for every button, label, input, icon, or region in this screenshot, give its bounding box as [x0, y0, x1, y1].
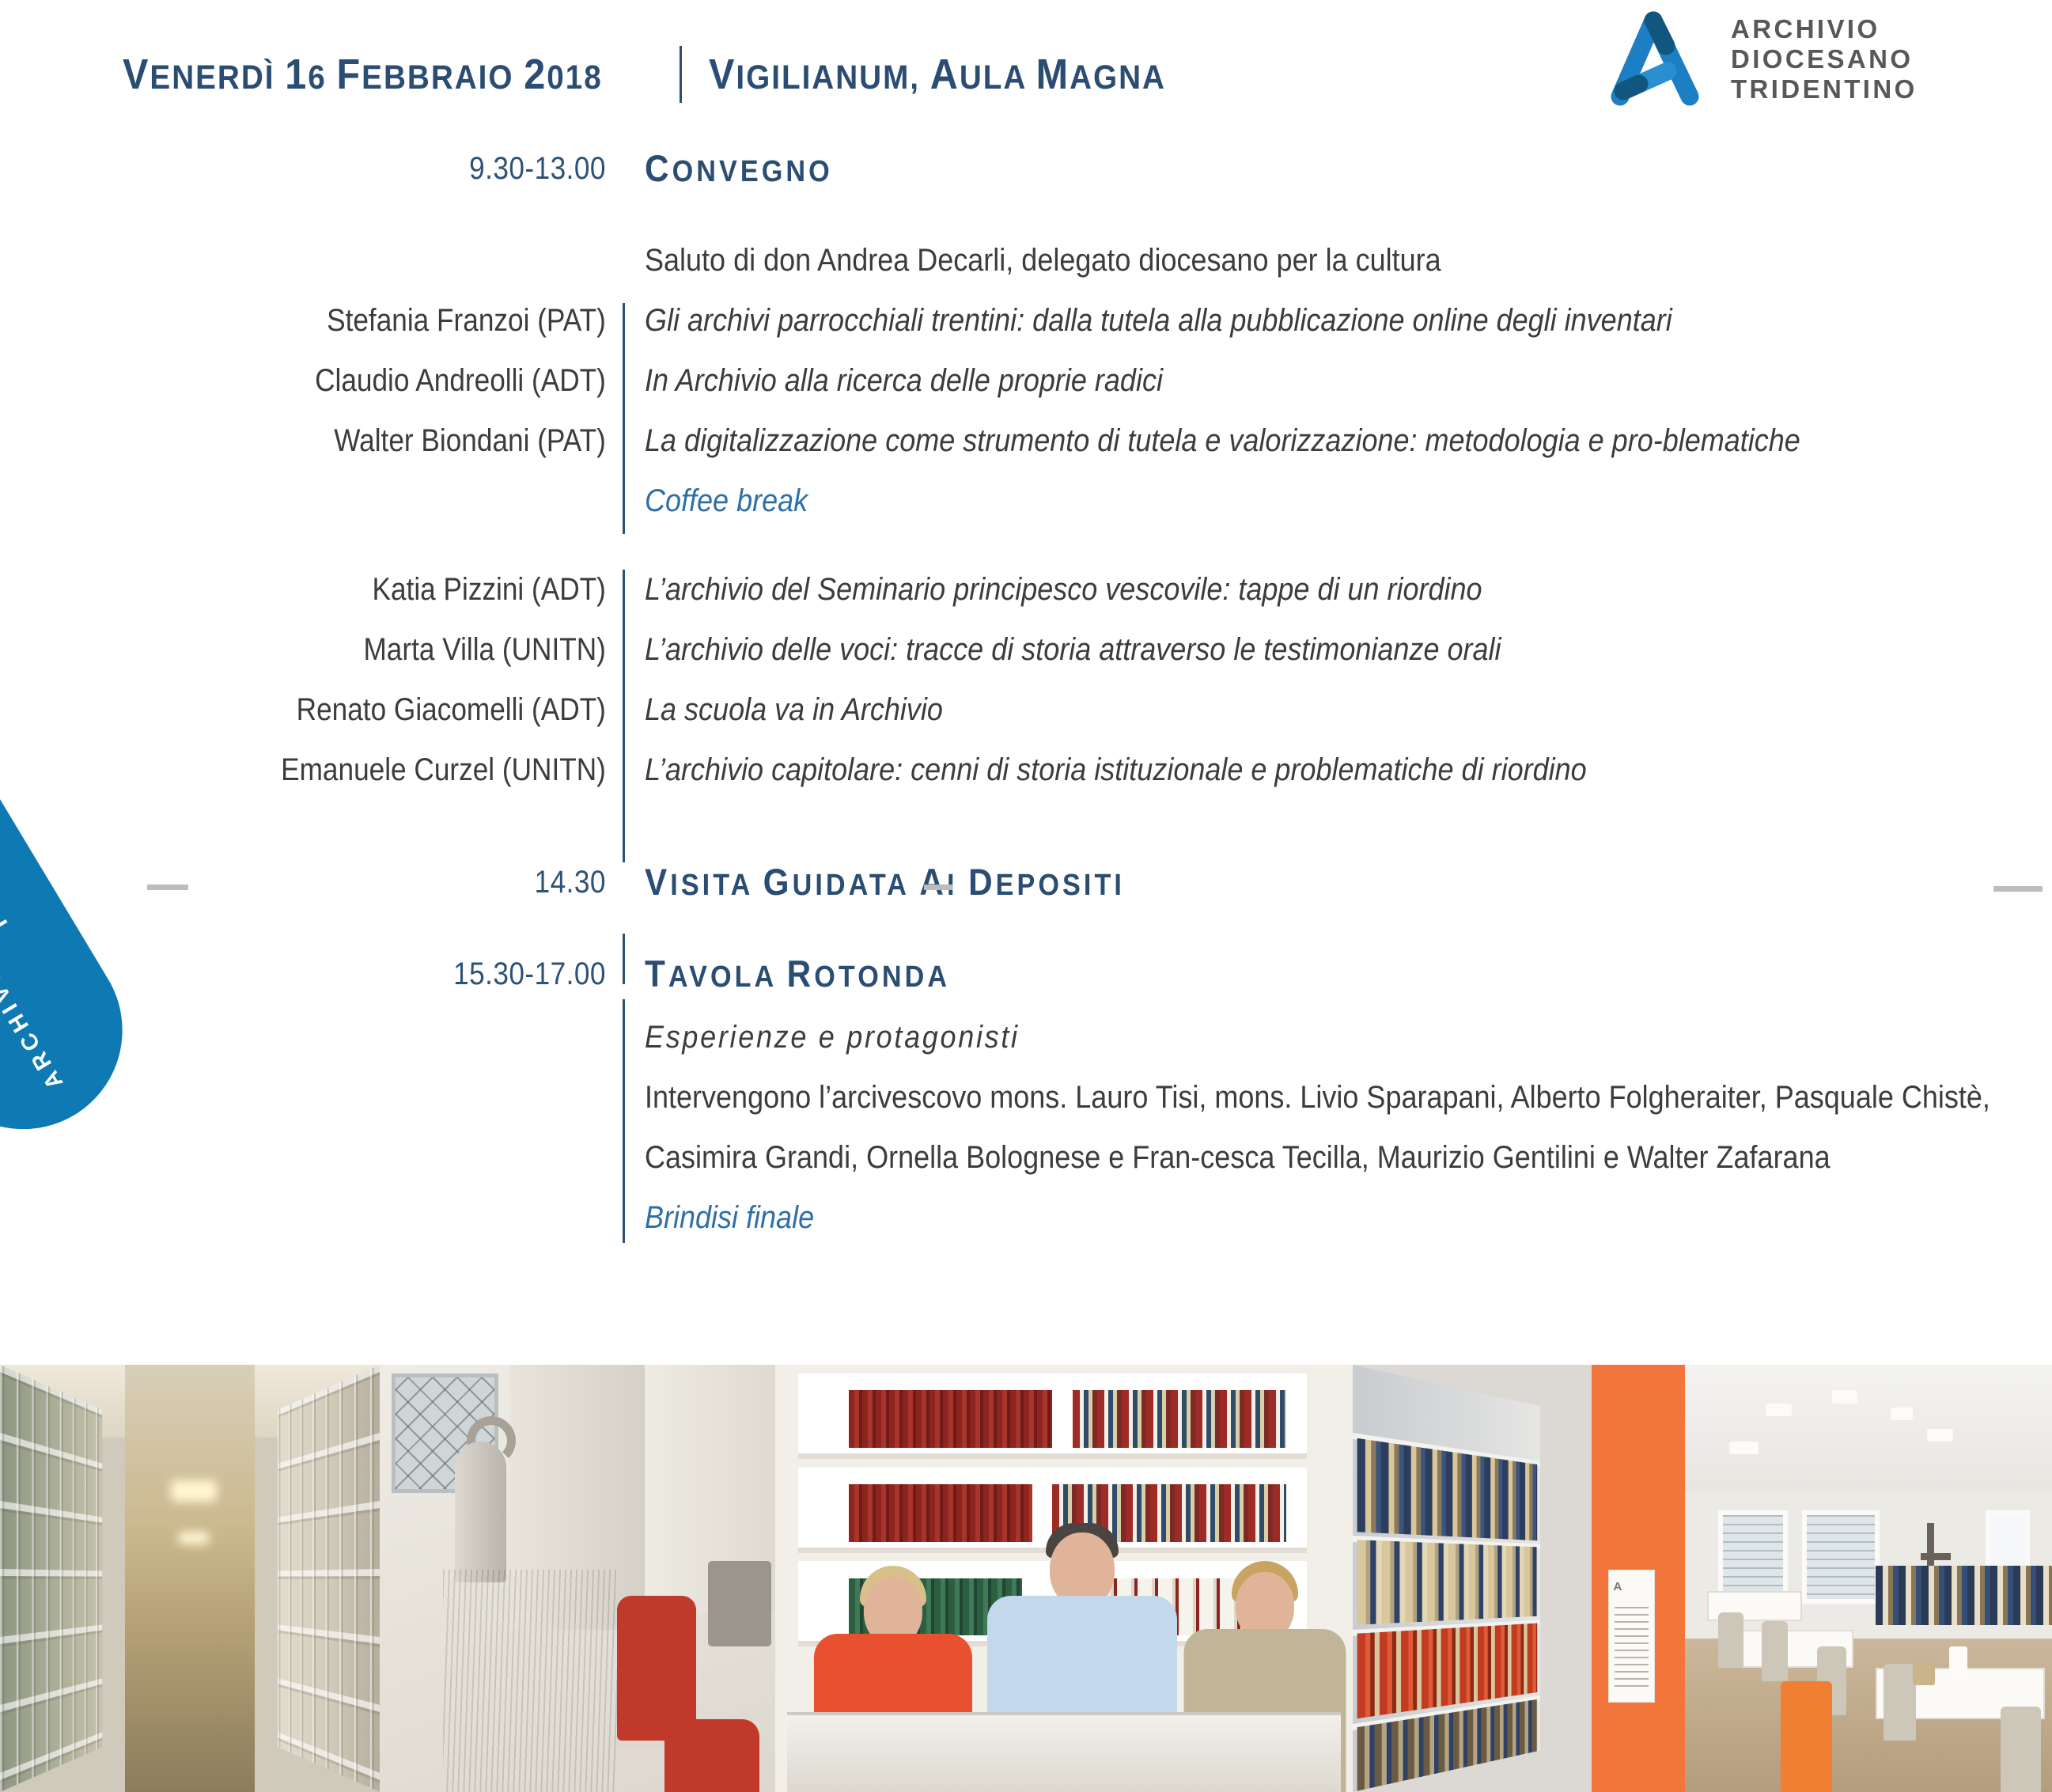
program-row-convegno: 9.30-13.00 CONVEGNO [0, 138, 2052, 202]
spacer [0, 202, 2052, 230]
entry-coffee-cell: Coffee break [623, 471, 2052, 531]
entry-coffee-break: Coffee break [645, 471, 2050, 531]
office-red-chair-front [664, 1719, 759, 1792]
speaker-franzoi: Stefania Franzoi (PAT) [74, 290, 623, 350]
crucifix-icon [1927, 1523, 1934, 1572]
logo-line-diocesano: DIOCESANO [1731, 44, 1918, 74]
entry-villa: L’archivio delle voci: tracce di storia … [645, 619, 2050, 680]
shelving-row [1876, 1566, 2052, 1626]
crucifix-bar-icon [1921, 1553, 1951, 1560]
entry-pizzini-cell: L’archivio del Seminario principesco ves… [623, 559, 2052, 619]
crop-mark-right [1993, 886, 2043, 892]
speaker-giacomelli: Renato Giacomelli (ADT) [74, 680, 623, 740]
corridor-lamp-far [179, 1532, 209, 1544]
photo-strip: A [0, 1365, 2052, 1792]
archivio-a-logo-icon [1604, 8, 1707, 109]
program-row-pizzini: Katia Pizzini (ADT) L’archivio del Semin… [0, 559, 2052, 619]
heading-visita-guidata: VISITA GUIDATA AI DEPOSITI [645, 852, 2050, 915]
subtitle-esperienze: Esperienze e protagonisti [645, 1007, 2050, 1067]
program-row-curzel: Emanuele Curzel (UNITN) L’archivio capit… [0, 740, 2052, 800]
window-right [1802, 1510, 1879, 1604]
program-list: 9.30-13.00 CONVEGNO Saluto di don Andrea… [0, 138, 2052, 1248]
speaker-andreolli: Claudio Andreolli (ADT) [74, 350, 623, 411]
program-row-franzoi: Stefania Franzoi (PAT) Gli archivi parro… [0, 290, 2052, 350]
heading-convegno: CONVEGNO [645, 138, 2050, 202]
event-venue: VIGILIANUM, AULA MAGNA [709, 50, 1166, 99]
book-row [1073, 1390, 1286, 1448]
brindisi-cell: Brindisi finale [623, 1188, 2052, 1248]
program-row-coffee: Coffee break [0, 471, 2052, 531]
chair [1762, 1621, 1787, 1681]
orange-chair [1781, 1681, 1832, 1792]
ceiling [1685, 1365, 2052, 1510]
chair [1884, 1664, 1917, 1741]
logo-wordmark: ARCHIVIO DIOCESANO TRIDENTINO [1731, 14, 1918, 104]
notice-text-lines [1615, 1607, 1649, 1688]
reading-room-photo [1685, 1365, 2052, 1792]
program-row-tavola: 15.30-17.00 TAVOLA ROTONDA [0, 944, 2052, 1007]
subtitle-cell: Esperienze e protagonisti [623, 1007, 2052, 1067]
reading-room-scene [1685, 1365, 2052, 1792]
program-divider-afternoon [623, 570, 625, 862]
header-title-group: VENERDÌ 16 FEBBRAIO 2018 VIGILIANUM, AUL… [123, 46, 1217, 103]
notice-logo-icon: A [1614, 1580, 1622, 1593]
ceiling-light [1832, 1390, 1857, 1403]
entry-biondani: La digitalizzazione come strumento di tu… [645, 411, 2050, 471]
entry-villa-cell: L’archivio delle voci: tracce di storia … [623, 619, 2052, 680]
meeting-table [787, 1712, 1342, 1792]
crop-mark-center [924, 885, 952, 890]
office-heater [455, 1442, 506, 1582]
file-row [1357, 1540, 1537, 1625]
metal-shelving-rack [1353, 1365, 1540, 1792]
entry-franzoi: Gli archivi parrocchiali trentini: dalla… [645, 290, 2050, 350]
heading-visita-cell: VISITA GUIDATA AI DEPOSITI [623, 852, 2052, 915]
shelving-scene: A [1353, 1365, 1685, 1792]
document-on-table [1913, 1664, 1935, 1685]
program-divider-visit [623, 934, 625, 984]
program-row-saluto: Saluto di don Andrea Decarli, delegato d… [0, 230, 2052, 290]
heading-convegno-cell: CONVEGNO [623, 138, 2052, 202]
title-divider [680, 46, 682, 103]
speaker-curzel: Emanuele Curzel (UNITN) [74, 740, 623, 800]
entry-franzoi-cell: Gli archivi parrocchiali trentini: dalla… [623, 290, 2052, 350]
time-tavola-rotonda: 15.30-17.00 [74, 944, 623, 1004]
chair [2001, 1707, 2041, 1792]
logo-line-archivio: ARCHIVIO [1731, 14, 1918, 44]
archive-boxes [0, 1365, 102, 1792]
program-row-participants: Intervengono l’arcivescovo mons. Lauro T… [0, 1067, 2052, 1188]
entry-andreolli: In Archivio alla ricerca delle proprie r… [645, 350, 2050, 411]
book-row [849, 1390, 1052, 1448]
ceiling-light [1766, 1404, 1791, 1416]
speaker-villa: Marta Villa (UNITN) [74, 619, 623, 680]
entry-pizzini: L’archivio del Seminario principesco ves… [645, 559, 2050, 619]
corridor-scene [0, 1365, 380, 1792]
time-convegno: 9.30-13.00 [74, 138, 623, 199]
spacer [0, 800, 2052, 852]
entry-biondani-cell: La digitalizzazione come strumento di tu… [623, 411, 2052, 471]
entry-giacomelli-cell: La scuola va in Archivio [623, 680, 2052, 740]
corridor-floor [125, 1365, 254, 1792]
entry-giacomelli: La scuola va in Archivio [645, 680, 2050, 740]
ceiling-light [1927, 1429, 1952, 1442]
heading-tavola-rotonda: TAVOLA ROTONDA [645, 944, 2050, 1007]
office-wooden-desk [443, 1570, 617, 1792]
program-row-villa: Marta Villa (UNITN) L’archivio delle voc… [0, 619, 2052, 680]
event-date: VENERDÌ 16 FEBBRAIO 2018 [123, 50, 603, 99]
archive-corridor-photo [0, 1365, 380, 1792]
document-on-table [1949, 1646, 1967, 1685]
entry-curzel: L’archivio capitolare: cenni di storia i… [645, 740, 2050, 800]
archive-shelving-photo: A [1353, 1365, 1685, 1792]
program-row-subtitle: Esperienze e protagonisti [0, 1007, 2052, 1067]
program-row-brindisi: Brindisi finale [0, 1188, 2052, 1248]
program-row-visita: 14.30 VISITA GUIDATA AI DEPOSITI [0, 852, 2052, 915]
header: VENERDÌ 16 FEBBRAIO 2018 VIGILIANUM, AUL… [0, 0, 2052, 146]
program-row-andreolli: Claudio Andreolli (ADT) In Archivio alla… [0, 350, 2052, 411]
speaker-pizzini: Katia Pizzini (ADT) [74, 559, 623, 619]
roundtable-people-photo [775, 1365, 1353, 1792]
program-divider-roundtable [623, 999, 625, 1243]
entry-curzel-cell: L’archivio capitolare: cenni di storia i… [623, 740, 2052, 800]
people-scene [775, 1365, 1353, 1792]
file-row [1357, 1438, 1537, 1540]
archive-boxes [278, 1365, 380, 1792]
entry-saluto: Saluto di don Andrea Decarli, delegato d… [645, 230, 2050, 290]
time-visita: 14.30 [74, 852, 623, 912]
participants-list: Intervengono l’arcivescovo mons. Lauro T… [645, 1067, 2050, 1188]
program-divider-morning [623, 303, 625, 534]
corridor-shelving-left [0, 1365, 102, 1792]
wall-notice-sheet: A [1608, 1570, 1655, 1702]
program-row-biondani: Walter Biondani (PAT) La digitalizzazion… [0, 411, 2052, 471]
brindisi-finale: Brindisi finale [645, 1188, 2050, 1248]
entry-saluto-cell: Saluto di don Andrea Decarli, delegato d… [623, 230, 2052, 290]
ceiling-light [1891, 1407, 1913, 1420]
participants-cell: Intervengono l’arcivescovo mons. Lauro T… [623, 1067, 2052, 1188]
ceiling-light [1729, 1442, 1759, 1454]
speaker-biondani: Walter Biondani (PAT) [74, 411, 623, 471]
office-monitor [708, 1561, 771, 1646]
spacer [0, 915, 2052, 944]
corridor-shelving-right [278, 1365, 380, 1792]
archivio-diocesano-logo: ARCHIVIO DIOCESANO TRIDENTINO [1604, 6, 1984, 109]
logo-line-tridentino: TRIDENTINO [1731, 74, 1918, 104]
crop-mark-left [147, 885, 188, 890]
archive-office-photo [380, 1365, 775, 1792]
program-row-giacomelli: Renato Giacomelli (ADT) La scuola va in … [0, 680, 2052, 740]
spacer [0, 531, 2052, 559]
corridor-lamp [171, 1480, 217, 1502]
bookshelf-row-1 [798, 1373, 1306, 1459]
heading-tavola-cell: TAVOLA ROTONDA [623, 944, 2052, 1007]
entry-andreolli-cell: In Archivio alla ricerca delle proprie r… [623, 350, 2052, 411]
window-left [1718, 1510, 1788, 1604]
chair [1718, 1612, 1743, 1668]
office-scene [380, 1365, 775, 1792]
